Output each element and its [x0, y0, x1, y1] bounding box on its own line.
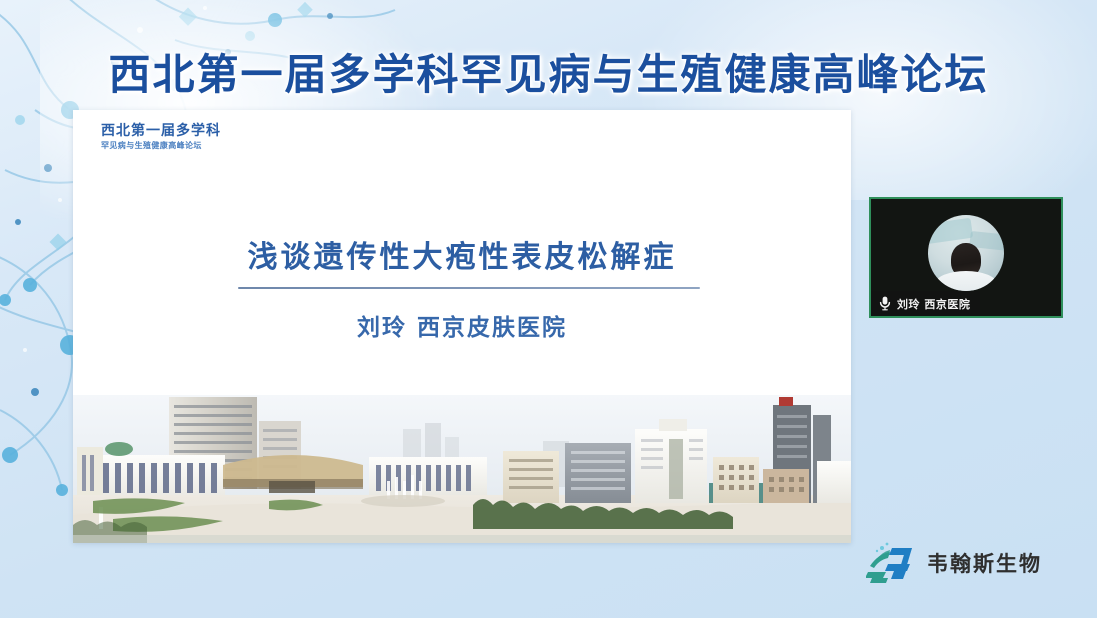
presentation-slide[interactable]: 西北第一届多学科 罕见病与生殖健康高峰论坛 浅谈遗传性大疱性表皮松解症 刘玲 西… [73, 110, 851, 543]
sponsor-watermark: 韦翰斯生物 [866, 542, 1042, 584]
avatar [928, 215, 1004, 291]
slide-event-logo: 西北第一届多学科 罕见病与生殖健康高峰论坛 [101, 124, 221, 151]
slide-title-divider [238, 287, 700, 289]
participant-video-tile[interactable]: 刘玲 西京医院 [869, 197, 1063, 318]
participant-nametag: 刘玲 西京医院 [871, 291, 980, 316]
forum-banner-title: 西北第一届多学科罕见病与生殖健康高峰论坛 [0, 41, 1097, 102]
slide-logo-sub-text: 罕见病与生殖健康高峰论坛 [101, 142, 221, 151]
screen-root: 西北第一届多学科罕见病与生殖健康高峰论坛 西北第一届多学科 罕见病与生殖健康高峰… [0, 0, 1097, 618]
microphone-icon[interactable] [879, 296, 891, 311]
slide-presenter: 刘玲 西京皮肤医院 [73, 308, 851, 342]
sponsor-brand-name: 韦翰斯生物 [927, 548, 1042, 578]
avatar-shoulders [935, 271, 997, 291]
weihansi-logo-icon [866, 542, 918, 584]
hospital-campus-photo [73, 395, 851, 543]
slide-title: 浅谈遗传性大疱性表皮松解症 [73, 232, 851, 276]
participant-name: 刘玲 西京医院 [897, 296, 970, 312]
slide-logo-main-text: 西北第一届多学科 [101, 124, 221, 140]
avatar-background-left [928, 218, 973, 244]
